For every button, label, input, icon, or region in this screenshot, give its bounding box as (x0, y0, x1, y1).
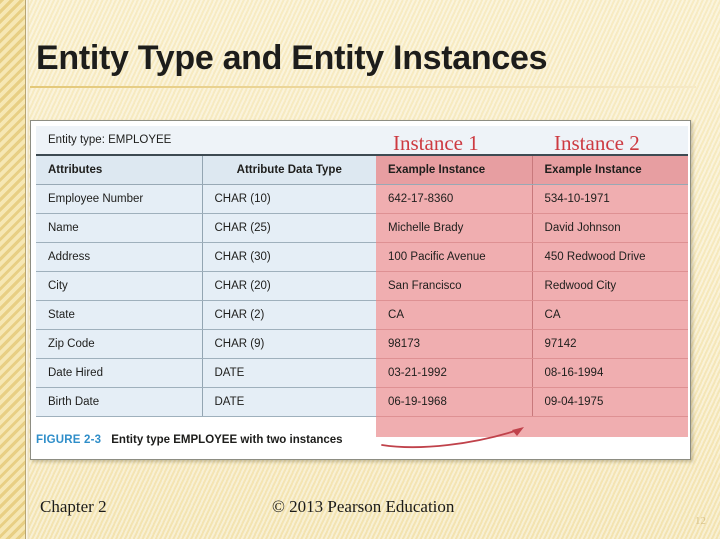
cell-attribute: Name (36, 213, 202, 242)
cell-instance-2: 08-16-1994 (532, 358, 688, 387)
table-row: Zip Code CHAR (9) 98173 97142 (36, 329, 688, 358)
cell-attribute: State (36, 300, 202, 329)
column-header-attributes: Attributes (36, 155, 202, 184)
figure-card: Entity type: EMPLOYEE Attributes Attribu… (30, 120, 691, 460)
figure-caption-text: Entity type EMPLOYEE with two instances (111, 434, 342, 446)
entity-type-label: Entity type: EMPLOYEE (36, 126, 376, 155)
table-row: Name CHAR (25) Michelle Brady David John… (36, 213, 688, 242)
cell-attribute: Date Hired (36, 358, 202, 387)
figure-caption: FIGURE 2-3Entity type EMPLOYEE with two … (36, 434, 343, 446)
entity-table-body: Entity type: EMPLOYEE Attributes Attribu… (36, 126, 688, 416)
cell-instance-2: 450 Redwood Drive (532, 242, 688, 271)
cell-instance-1: 06-19-1968 (376, 387, 532, 416)
entity-table: Entity type: EMPLOYEE Attributes Attribu… (36, 126, 688, 417)
cell-attribute: Employee Number (36, 184, 202, 213)
cell-instance-2: CA (532, 300, 688, 329)
page-number: 12 (695, 515, 706, 527)
cell-instance-2: Redwood City (532, 271, 688, 300)
cell-instance-1: 642-17-8360 (376, 184, 532, 213)
left-band-edge (26, 0, 29, 539)
table-row: Address CHAR (30) 100 Pacific Avenue 450… (36, 242, 688, 271)
column-header-instance-1: Example Instance (376, 155, 532, 184)
cell-data-type: CHAR (25) (202, 213, 376, 242)
cell-data-type: DATE (202, 358, 376, 387)
table-row: Date Hired DATE 03-21-1992 08-16-1994 (36, 358, 688, 387)
cell-instance-1: Michelle Brady (376, 213, 532, 242)
cell-instance-2: 09-04-1975 (532, 387, 688, 416)
instance-2-callout: Instance 2 (554, 131, 640, 156)
cell-attribute: Zip Code (36, 329, 202, 358)
instance-1-callout: Instance 1 (393, 131, 479, 156)
cell-instance-2: 97142 (532, 329, 688, 358)
footer-copyright: © 2013 Pearson Education (272, 497, 454, 517)
figure-number: FIGURE 2-3 (36, 434, 101, 446)
table-row: City CHAR (20) San Francisco Redwood Cit… (36, 271, 688, 300)
cell-instance-1: 03-21-1992 (376, 358, 532, 387)
cell-data-type: CHAR (20) (202, 271, 376, 300)
table-block: Entity type: EMPLOYEE Attributes Attribu… (36, 126, 686, 420)
cell-data-type: CHAR (10) (202, 184, 376, 213)
cell-instance-2: 534-10-1971 (532, 184, 688, 213)
cell-instance-1: San Francisco (376, 271, 532, 300)
cell-attribute: Address (36, 242, 202, 271)
cell-instance-2: David Johnson (532, 213, 688, 242)
table-header-row: Attributes Attribute Data Type Example I… (36, 155, 688, 184)
column-header-instance-2: Example Instance (532, 155, 688, 184)
cell-data-type: DATE (202, 387, 376, 416)
cell-data-type: CHAR (9) (202, 329, 376, 358)
cell-instance-1: CA (376, 300, 532, 329)
cell-attribute: Birth Date (36, 387, 202, 416)
cell-attribute: City (36, 271, 202, 300)
cell-instance-1: 100 Pacific Avenue (376, 242, 532, 271)
cell-data-type: CHAR (2) (202, 300, 376, 329)
cell-instance-1: 98173 (376, 329, 532, 358)
slide-canvas: Entity Type and Entity Instances Entity … (0, 0, 720, 539)
column-header-data-type: Attribute Data Type (202, 155, 376, 184)
left-decorative-band (0, 0, 26, 539)
table-row: Employee Number CHAR (10) 642-17-8360 53… (36, 184, 688, 213)
title-underline (30, 86, 696, 88)
table-row: State CHAR (2) CA CA (36, 300, 688, 329)
table-row: Birth Date DATE 06-19-1968 09-04-1975 (36, 387, 688, 416)
cell-data-type: CHAR (30) (202, 242, 376, 271)
page-title: Entity Type and Entity Instances (36, 38, 686, 78)
footer-chapter: Chapter 2 (40, 497, 107, 517)
